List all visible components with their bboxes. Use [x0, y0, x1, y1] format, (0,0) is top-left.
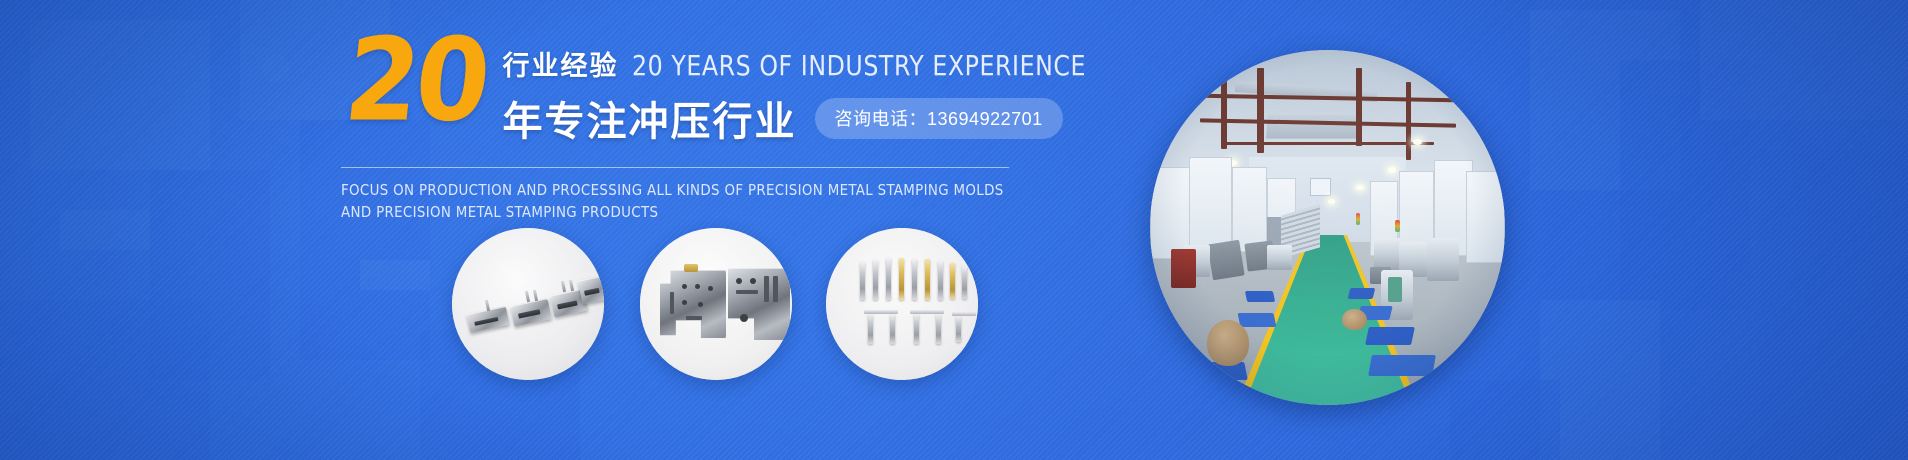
product-circle-terminal-pins[interactable]: [826, 228, 978, 380]
headline-line-2: 年专注冲压行业 咨询电话：13694922701: [503, 89, 1115, 147]
product-circle-usb-connectors[interactable]: [452, 228, 604, 380]
years-number: 20: [341, 31, 491, 129]
factory-workshop-photo[interactable]: [1150, 50, 1505, 405]
product-image-terminal-pins: [826, 228, 978, 380]
product-image-stamping-die: [640, 228, 792, 380]
headline-divider: [341, 167, 1009, 168]
headline-row: 20 行业经验 20 YEARS OF INDUSTRY EXPERIENCE …: [341, 36, 1101, 147]
headline-cn-large: 年专注冲压行业: [503, 89, 797, 147]
subtitle-line-2: AND PRECISION METAL STAMPING PRODUCTS: [341, 201, 1071, 223]
headline-cn-small: 行业经验: [503, 44, 619, 83]
headline-text: 行业经验 20 YEARS OF INDUSTRY EXPERIENCE 年专注…: [503, 36, 1115, 147]
subtitle-block: FOCUS ON PRODUCTION AND PROCESSING ALL K…: [341, 179, 1071, 223]
subtitle-line-1: FOCUS ON PRODUCTION AND PROCESSING ALL K…: [341, 179, 1071, 201]
promo-banner: 20 行业经验 20 YEARS OF INDUSTRY EXPERIENCE …: [0, 0, 1908, 460]
headline-en-large: 20 YEARS OF INDUSTRY EXPERIENCE: [632, 49, 1086, 82]
headline-block: 20 行业经验 20 YEARS OF INDUSTRY EXPERIENCE …: [341, 36, 1101, 223]
product-image-usb-connectors: [452, 228, 604, 380]
product-circle-stamping-die[interactable]: [640, 228, 792, 380]
phone-badge[interactable]: 咨询电话：13694922701: [815, 98, 1063, 139]
headline-line-1: 行业经验 20 YEARS OF INDUSTRY EXPERIENCE: [503, 44, 1115, 83]
